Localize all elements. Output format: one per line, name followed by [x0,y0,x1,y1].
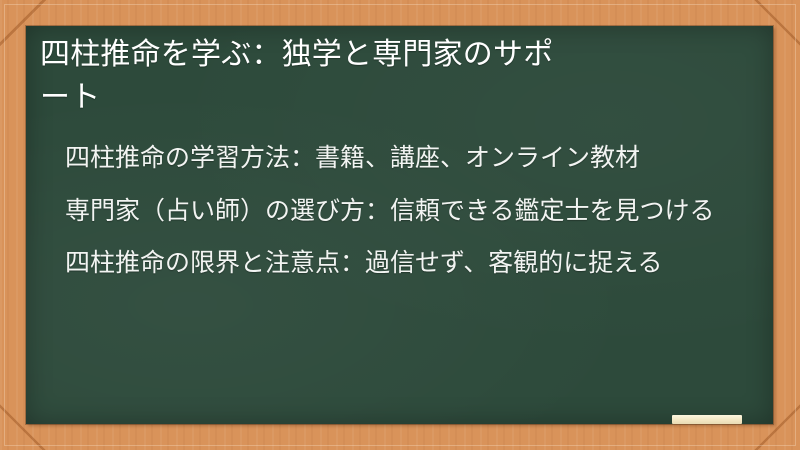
chalkboard-slide: 四柱推命を学ぶ：独学と専門家のサポート 四柱推命の学習方法：書籍、講座、オンライ… [0,0,800,450]
list-item: 四柱推命の学習方法：書籍、講座、オンライン教材 [65,141,741,177]
list-item: 四柱推命の限界と注意点：過信せず、客観的に捉える [65,246,741,282]
slide-title: 四柱推命を学ぶ：独学と専門家のサポート [33,34,750,119]
chalkboard-content: 四柱推命を学ぶ：独学と専門家のサポート 四柱推命の学習方法：書籍、講座、オンライ… [26,26,773,282]
slide-title-line-2: ート [40,81,100,114]
list-item: 専門家（占い師）の選び方：信頼できる鑑定士を見つける [65,194,741,230]
chalkboard-surface: 四柱推命を学ぶ：独学と専門家のサポート 四柱推命の学習方法：書籍、講座、オンライ… [26,26,773,424]
chalk-stick-icon [672,415,742,424]
slide-bullet-list: 四柱推命の学習方法：書籍、講座、オンライン教材 専門家（占い師）の選び方：信頼で… [33,141,753,282]
slide-title-line-1: 四柱推命を学ぶ：独学と専門家のサポ [40,38,553,71]
